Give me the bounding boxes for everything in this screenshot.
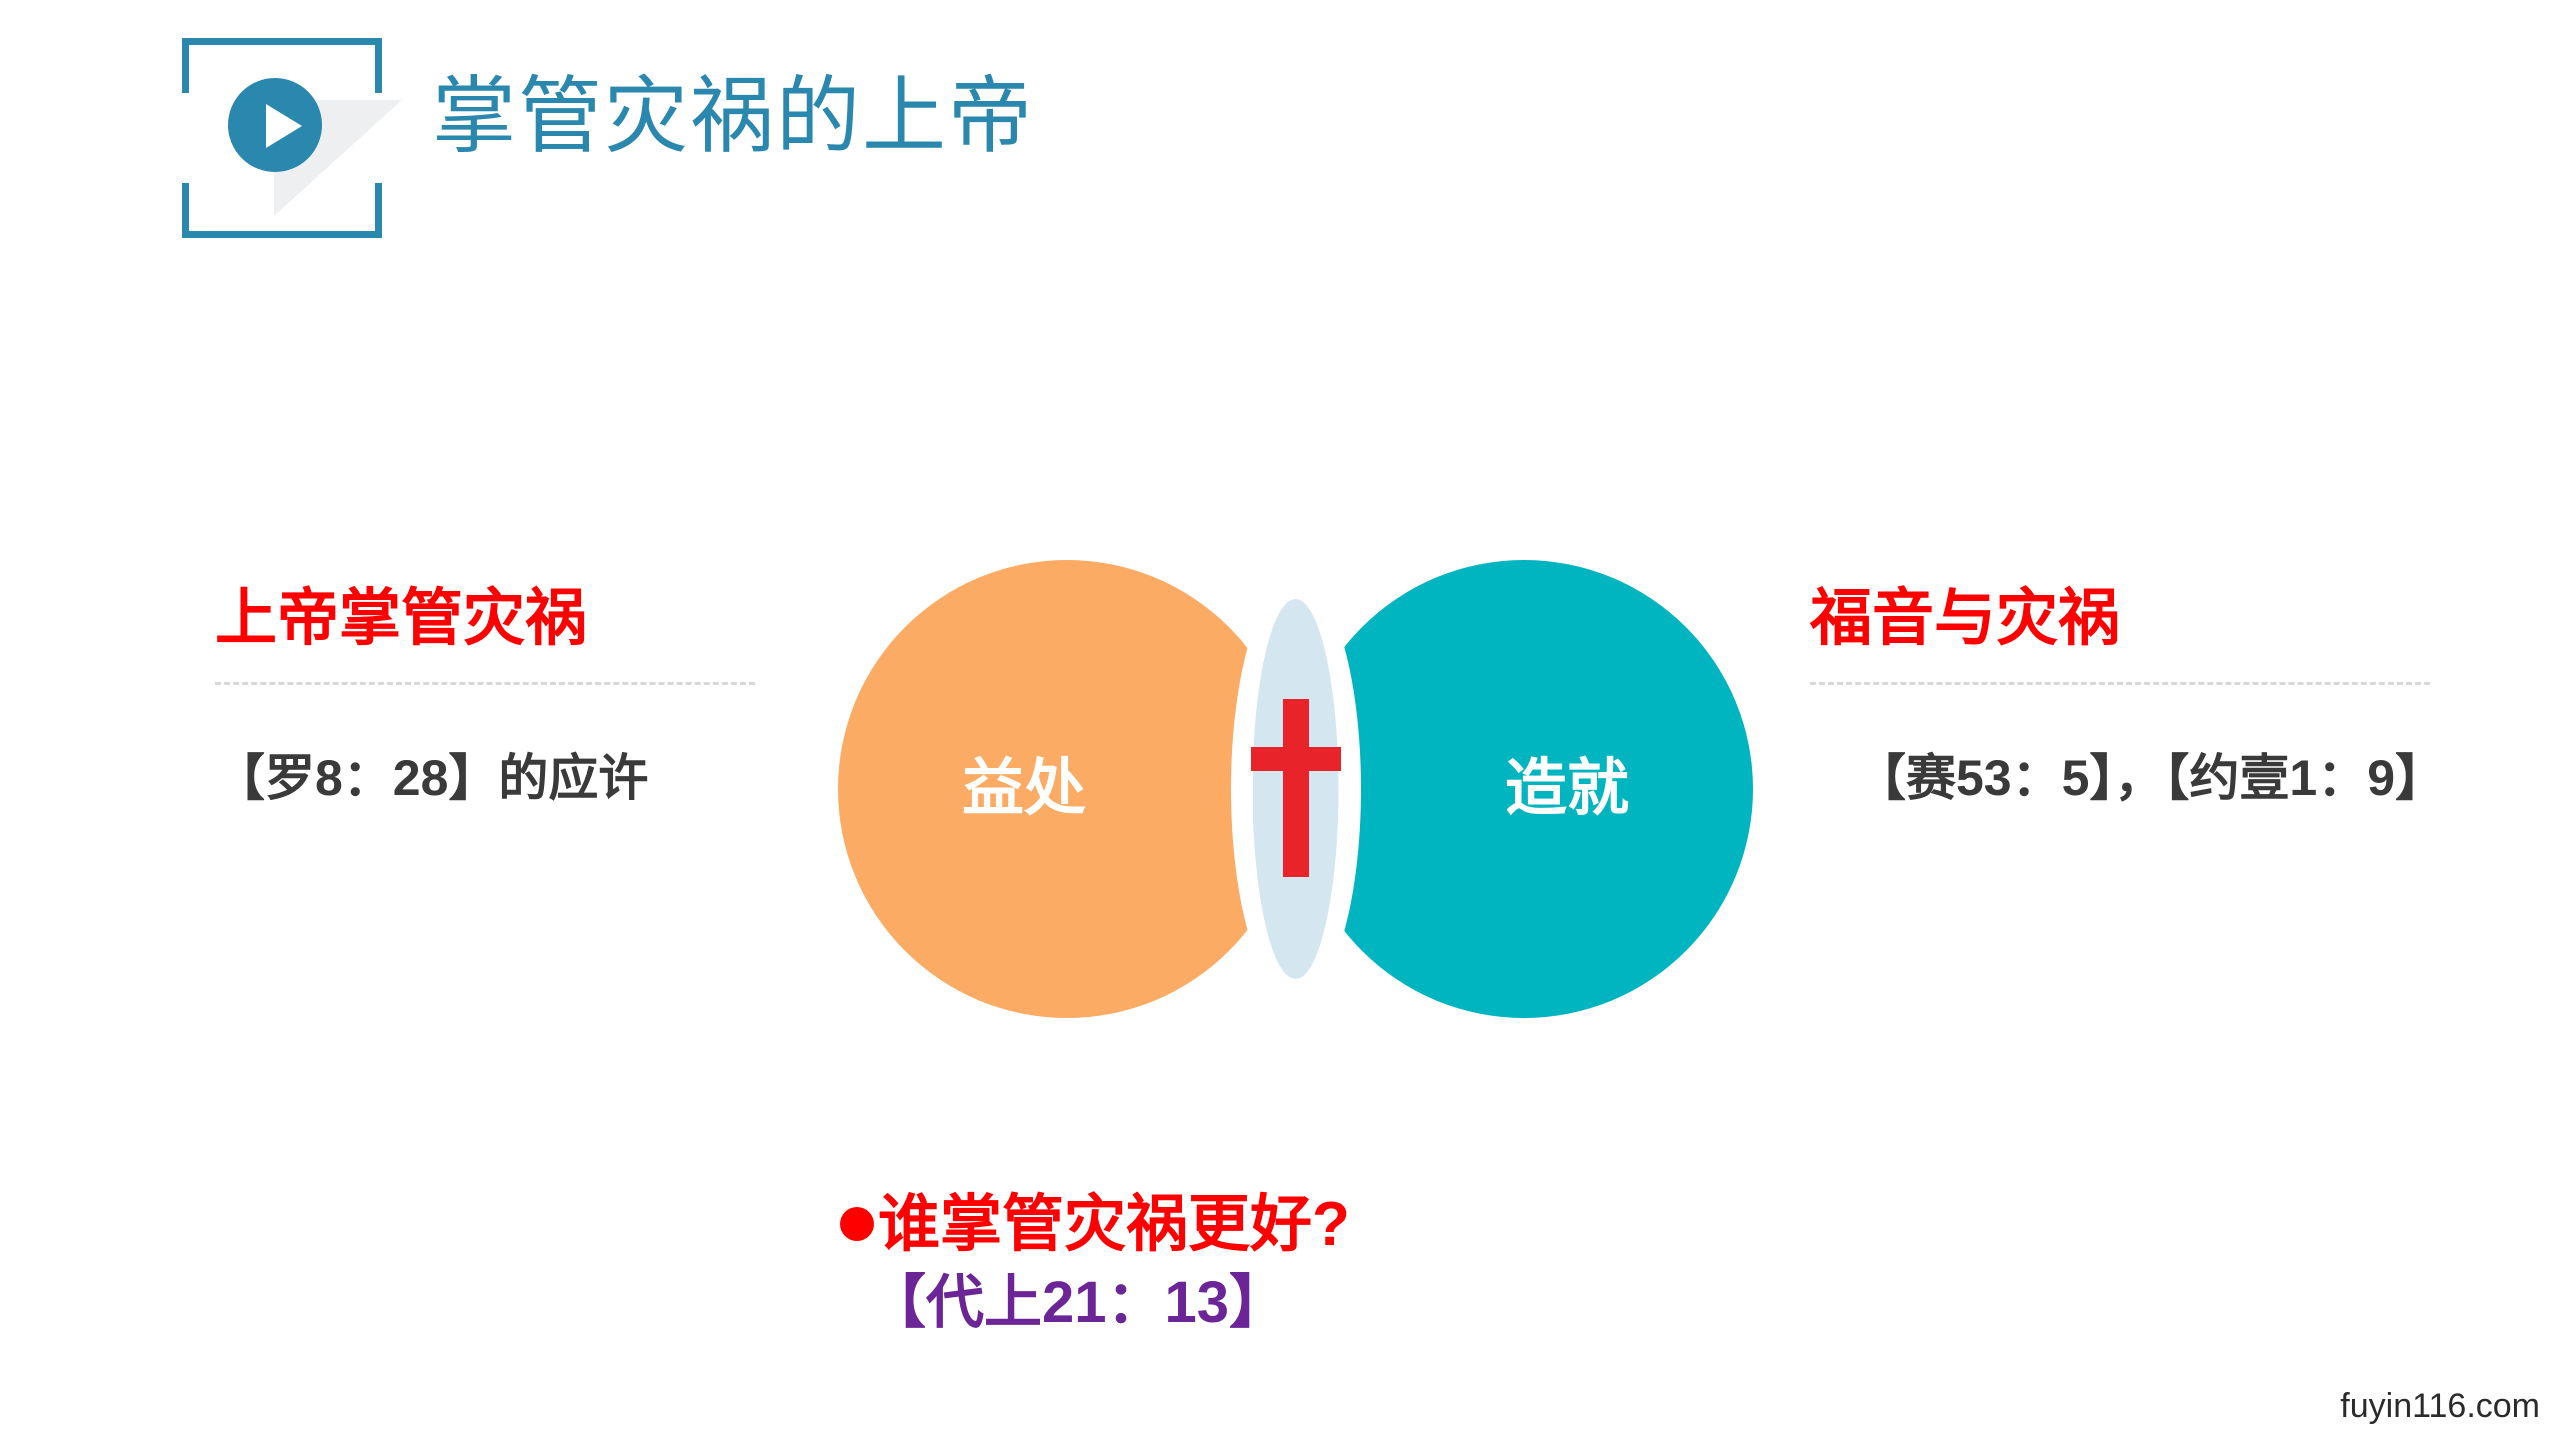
left-panel-heading: 上帝掌管灾祸 [215,580,785,658]
cross-icon [1283,699,1309,877]
right-panel-body: 【赛53：5】，【约壹1：9】 [1810,741,2450,815]
right-panel-divider [1810,682,2430,685]
left-topic-panel: 上帝掌管灾祸 【罗8：28】的应许 [215,580,785,815]
venn-diagram: 益处 造就 [838,560,1753,1018]
bottom-question-line: 谁掌管灾祸更好? [840,1188,1740,1262]
cross-icon-crossbar [1251,747,1341,771]
bottom-scripture-reference: 【代上21：13】 [868,1268,1740,1338]
venn-label-left: 益处 [962,754,1086,824]
frame-left-top-edge [182,38,189,93]
play-triangle-glyph [266,104,302,148]
bottom-question-text: 谁掌管灾祸更好? [878,1190,1350,1259]
left-panel-body: 【罗8：28】的应许 [215,741,785,815]
venn-overlap-region [1253,599,1339,979]
venn-circle-left: 益处 [838,560,1296,1018]
right-panel-heading: 福音与灾祸 [1810,580,2450,658]
frame-right-top-edge [375,38,382,93]
bullet-dot-icon [840,1207,874,1241]
bottom-callout: 谁掌管灾祸更好? 【代上21：13】 [840,1188,1740,1338]
play-in-frame-icon [182,38,382,238]
page-title: 掌管灾祸的上帝 [432,62,1034,170]
right-topic-panel: 福音与灾祸 【赛53：5】，【约壹1：9】 [1810,580,2450,815]
left-panel-divider [215,682,755,685]
frame-left-bottom-edge [182,183,189,238]
venn-label-right: 造就 [1505,754,1629,824]
site-watermark: fuyin116.com [2340,1386,2540,1426]
frame-bottom-edge [182,231,382,238]
play-icon [228,78,322,172]
slide-header: 掌管灾祸的上帝 [0,0,2560,280]
venn-circle-right: 造就 [1295,560,1753,1018]
frame-top-edge [182,38,382,45]
